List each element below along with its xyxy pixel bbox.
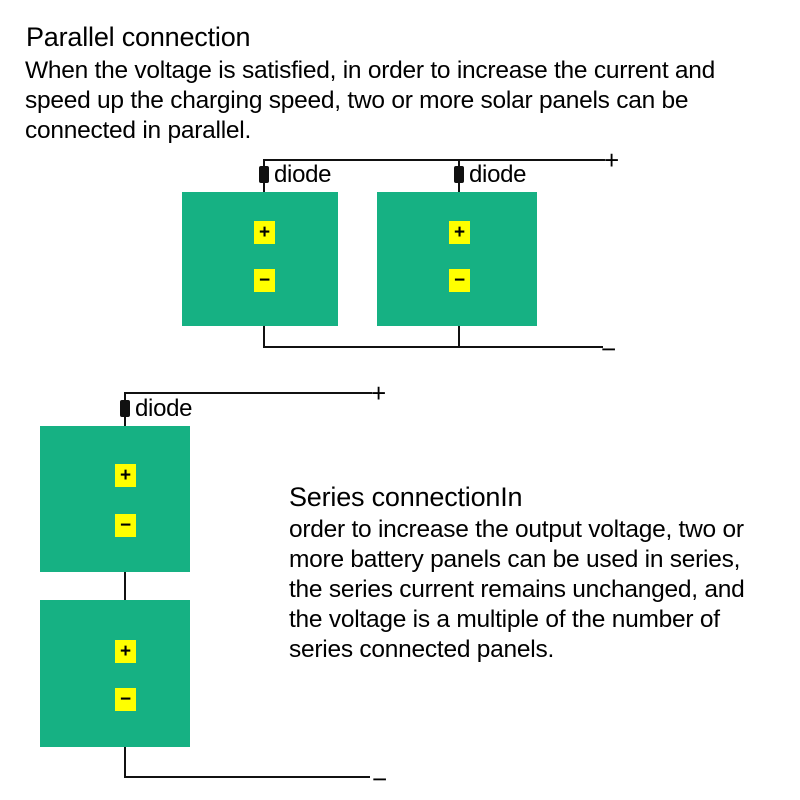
series-heading: Series connectionIn <box>289 482 522 513</box>
diode-label-parallel-right: diode <box>469 163 526 187</box>
series-output-positive-label: + <box>371 380 386 406</box>
parallel-output-positive-label: + <box>604 147 619 173</box>
terminal-negative-series-lower: − <box>115 688 136 711</box>
diagram-page: Parallel connection When the voltage is … <box>0 0 800 800</box>
parallel-description-line-1: When the voltage is satisfied, in order … <box>25 56 715 86</box>
diode-label-parallel-left: diode <box>274 163 331 187</box>
parallel-description-line-2: speed up the charging speed, two or more… <box>25 86 715 116</box>
solar-panel-series-upper <box>40 426 190 572</box>
terminal-negative-parallel-left: − <box>254 269 275 292</box>
terminal-negative-series-upper: − <box>115 514 136 537</box>
solar-panel-series-lower <box>40 600 190 747</box>
diode-icon-parallel-left <box>259 166 269 183</box>
solar-panel-parallel-right <box>377 192 537 326</box>
series-description-line-2: more battery panels can be used in serie… <box>289 545 745 575</box>
parallel-description: When the voltage is satisfied, in order … <box>25 56 715 146</box>
series-description-line-3: the series current remains unchanged, an… <box>289 575 745 605</box>
diode-icon-parallel-right <box>454 166 464 183</box>
series-output-negative-label: − <box>372 766 387 792</box>
terminal-positive-parallel-left: + <box>254 221 275 244</box>
series-description-line-5: series connected panels. <box>289 635 745 665</box>
parallel-description-line-3: connected in parallel. <box>25 116 715 146</box>
terminal-positive-series-lower: + <box>115 640 136 663</box>
terminal-positive-series-upper: + <box>115 464 136 487</box>
series-description-line-4: the voltage is a multiple of the number … <box>289 605 745 635</box>
parallel-output-negative-label: − <box>601 336 616 362</box>
series-description-line-1: order to increase the output voltage, tw… <box>289 515 745 545</box>
terminal-negative-parallel-right: − <box>449 269 470 292</box>
terminal-positive-parallel-right: + <box>449 221 470 244</box>
diode-icon-series <box>120 400 130 417</box>
diode-label-series: diode <box>135 397 192 421</box>
solar-panel-parallel-left <box>182 192 338 326</box>
parallel-heading: Parallel connection <box>26 22 250 53</box>
series-description: order to increase the output voltage, tw… <box>289 515 745 665</box>
series-positive-bus-wire <box>124 392 372 394</box>
parallel-negative-bus-wire <box>263 346 603 348</box>
series-negative-bus-wire <box>124 776 370 778</box>
